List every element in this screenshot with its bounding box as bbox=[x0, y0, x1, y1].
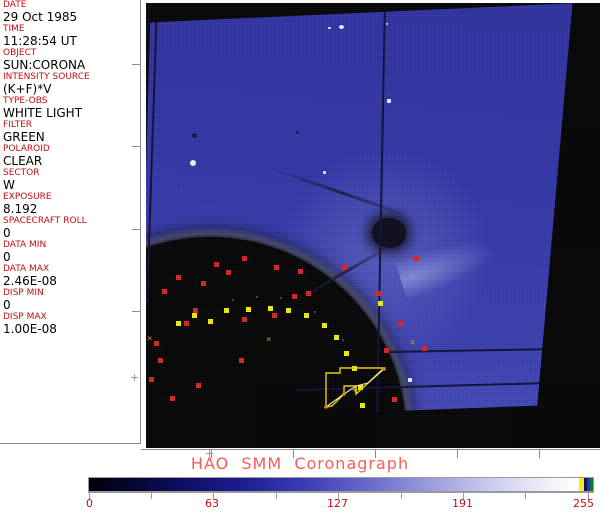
reticle-x-marker: × bbox=[147, 335, 152, 344]
metadata-value: W bbox=[3, 178, 140, 192]
axis-tick-left bbox=[132, 229, 141, 230]
reticle-dot-red bbox=[398, 321, 403, 326]
dust-speck bbox=[296, 131, 299, 134]
star-point bbox=[323, 171, 326, 174]
metadata-label: TYPE-OBS bbox=[3, 96, 140, 106]
reticle-dot-red bbox=[272, 313, 277, 318]
reticle-dot-red bbox=[214, 262, 219, 267]
metadata-value: 0 bbox=[3, 250, 140, 264]
metadata-value: 2.46E-08 bbox=[3, 274, 140, 288]
reticle-dot-red bbox=[149, 377, 154, 382]
metadata-row: TIME 11:28:54 UT bbox=[0, 24, 140, 48]
reticle-dot-red bbox=[306, 291, 311, 296]
reticle-dot-yellow bbox=[378, 301, 383, 306]
metadata-row: TYPE-OBS WHITE LIGHT bbox=[0, 96, 140, 120]
reticle-dot-yellow bbox=[224, 308, 229, 313]
metadata-label: INTENSITY SOURCE bbox=[3, 72, 140, 82]
dust-speck bbox=[192, 133, 197, 138]
reticle-dot-yellow bbox=[176, 321, 181, 326]
metadata-label: DATA MAX bbox=[3, 264, 140, 274]
colorbar-label: 0 bbox=[86, 498, 93, 510]
star-point bbox=[328, 27, 331, 29]
metadata-value: GREEN bbox=[3, 130, 140, 144]
metadata-row: INTENSITY SOURCE (K+F)*V bbox=[0, 72, 140, 96]
metadata-row: SPACECRAFT ROLL 0 bbox=[0, 216, 140, 240]
reticle-dot-red bbox=[239, 358, 244, 363]
metadata-value: 0 bbox=[3, 226, 140, 240]
metadata-label: DATE bbox=[3, 0, 140, 10]
reticle-dot-red bbox=[158, 358, 163, 363]
reticle-dot-red bbox=[414, 256, 419, 261]
star-point bbox=[339, 25, 344, 29]
region-center-marker: + bbox=[352, 386, 358, 396]
colorbar-gradient bbox=[89, 478, 579, 491]
metadata-label: SECTOR bbox=[3, 168, 140, 178]
metadata-label: POLAROID bbox=[3, 144, 140, 154]
metadata-value: (K+F)*V bbox=[3, 82, 140, 96]
reticle-dot-red bbox=[154, 341, 159, 346]
metadata-label: FILTER bbox=[3, 120, 140, 130]
metadata-row: DISP MAX 1.00E-08 bbox=[0, 312, 140, 336]
metadata-label: OBJECT bbox=[3, 48, 140, 58]
reticle-dot-yellow bbox=[246, 307, 251, 312]
metadata-label: DATA MIN bbox=[3, 240, 140, 250]
reticle-dot-small bbox=[342, 339, 344, 341]
metadata-row: POLAROID CLEAR bbox=[0, 144, 140, 168]
metadata-panel: DATE 29 Oct 1985 TIME 11:28:54 UT OBJECT… bbox=[0, 0, 140, 443]
colorbar-label: 127 bbox=[327, 498, 348, 510]
colorbar-tick-minor bbox=[525, 493, 526, 499]
reticle-dot-small bbox=[232, 299, 234, 301]
metadata-value: 0 bbox=[3, 298, 140, 312]
reticle-dot-red bbox=[196, 383, 201, 388]
reticle-dot-red bbox=[170, 396, 175, 401]
reticle-dot-yellow bbox=[334, 335, 339, 340]
chart-title: HAO SMM Coronagraph bbox=[0, 455, 600, 473]
metadata-label: TIME bbox=[3, 24, 140, 34]
colorbar-stripe-green bbox=[590, 478, 593, 491]
metadata-value: SUN:CORONA bbox=[3, 58, 140, 72]
coronagraph-image-viewer: DATE 29 Oct 1985 TIME 11:28:54 UT OBJECT… bbox=[0, 0, 600, 512]
reticle-dot-small bbox=[314, 311, 316, 313]
metadata-row: SECTOR W bbox=[0, 168, 140, 192]
axis-center-marker-left: + bbox=[130, 372, 139, 383]
reticle-dot-yellow bbox=[344, 351, 349, 356]
metadata-value: 11:28:54 UT bbox=[3, 34, 140, 48]
colorbar-axis bbox=[88, 492, 594, 493]
reticle-dot-red bbox=[298, 269, 303, 274]
reticle-dot-small bbox=[280, 297, 282, 299]
colorbar-label: 255 bbox=[573, 498, 594, 510]
star-point bbox=[386, 23, 388, 25]
star-point bbox=[408, 378, 412, 382]
reticle-dot-red bbox=[274, 265, 279, 270]
star-point bbox=[387, 99, 391, 103]
reticle-dot-red bbox=[201, 281, 206, 286]
reticle-dot-yellow bbox=[286, 308, 291, 313]
panel-divider-horizontal bbox=[0, 443, 141, 444]
reticle-dot-yellow bbox=[208, 319, 213, 324]
metadata-value: 29 Oct 1985 bbox=[3, 10, 140, 24]
reticle-dot-red bbox=[162, 289, 167, 294]
reticle-dot-red bbox=[292, 294, 297, 299]
coronagraph-image: × × × + bbox=[146, 3, 600, 448]
colorbar-tick-minor bbox=[276, 493, 277, 499]
metadata-row: FILTER GREEN bbox=[0, 120, 140, 144]
colorbar-tick-minor bbox=[401, 493, 402, 499]
reticle-dot-red bbox=[242, 256, 247, 261]
reticle-dot-yellow bbox=[268, 306, 273, 311]
occulter-pylon-shadow bbox=[372, 218, 406, 248]
metadata-label: DISP MAX bbox=[3, 312, 140, 322]
panel-divider-vertical bbox=[140, 0, 141, 443]
metadata-row: DATA MIN 0 bbox=[0, 240, 140, 264]
reticle-dot-yellow bbox=[192, 313, 197, 318]
axis-tick-left bbox=[132, 311, 141, 312]
colorbar-label: 191 bbox=[452, 498, 473, 510]
reticle-dot-red bbox=[176, 275, 181, 280]
reticle-x-marker: × bbox=[410, 339, 415, 348]
reticle-dot-yellow bbox=[304, 313, 309, 318]
metadata-value: WHITE LIGHT bbox=[3, 106, 140, 120]
metadata-row: EXPOSURE 8.192 bbox=[0, 192, 140, 216]
metadata-row: OBJECT SUN:CORONA bbox=[0, 48, 140, 72]
reticle-dot-yellow bbox=[322, 323, 327, 328]
reticle-dot-red bbox=[226, 270, 231, 275]
colorbar-tick-minor bbox=[151, 493, 152, 499]
metadata-label: SPACECRAFT ROLL bbox=[3, 216, 140, 226]
colorbar-label: 63 bbox=[205, 498, 219, 510]
star-point bbox=[190, 160, 196, 166]
axis-tick-left bbox=[132, 64, 141, 65]
metadata-value: 1.00E-08 bbox=[3, 322, 140, 336]
metadata-value: 8.192 bbox=[3, 202, 140, 216]
reticle-dot-small bbox=[256, 296, 258, 298]
metadata-row: DATE 29 Oct 1985 bbox=[0, 0, 140, 24]
reticle-dot-red bbox=[422, 346, 427, 351]
metadata-label: EXPOSURE bbox=[3, 192, 140, 202]
colorbar bbox=[88, 477, 594, 492]
reticle-dot-red bbox=[384, 348, 389, 353]
reticle-dot-red bbox=[376, 291, 381, 296]
reticle-dot-red bbox=[184, 321, 189, 326]
reticle-dot-red bbox=[342, 265, 347, 270]
metadata-value: CLEAR bbox=[3, 154, 140, 168]
metadata-label: DISP MIN bbox=[3, 288, 140, 298]
metadata-row: DATA MAX 2.46E-08 bbox=[0, 264, 140, 288]
metadata-row: DISP MIN 0 bbox=[0, 288, 140, 312]
axis-tick-left bbox=[132, 146, 141, 147]
reticle-dot-red bbox=[242, 317, 247, 322]
reticle-x-marker: × bbox=[266, 336, 271, 345]
